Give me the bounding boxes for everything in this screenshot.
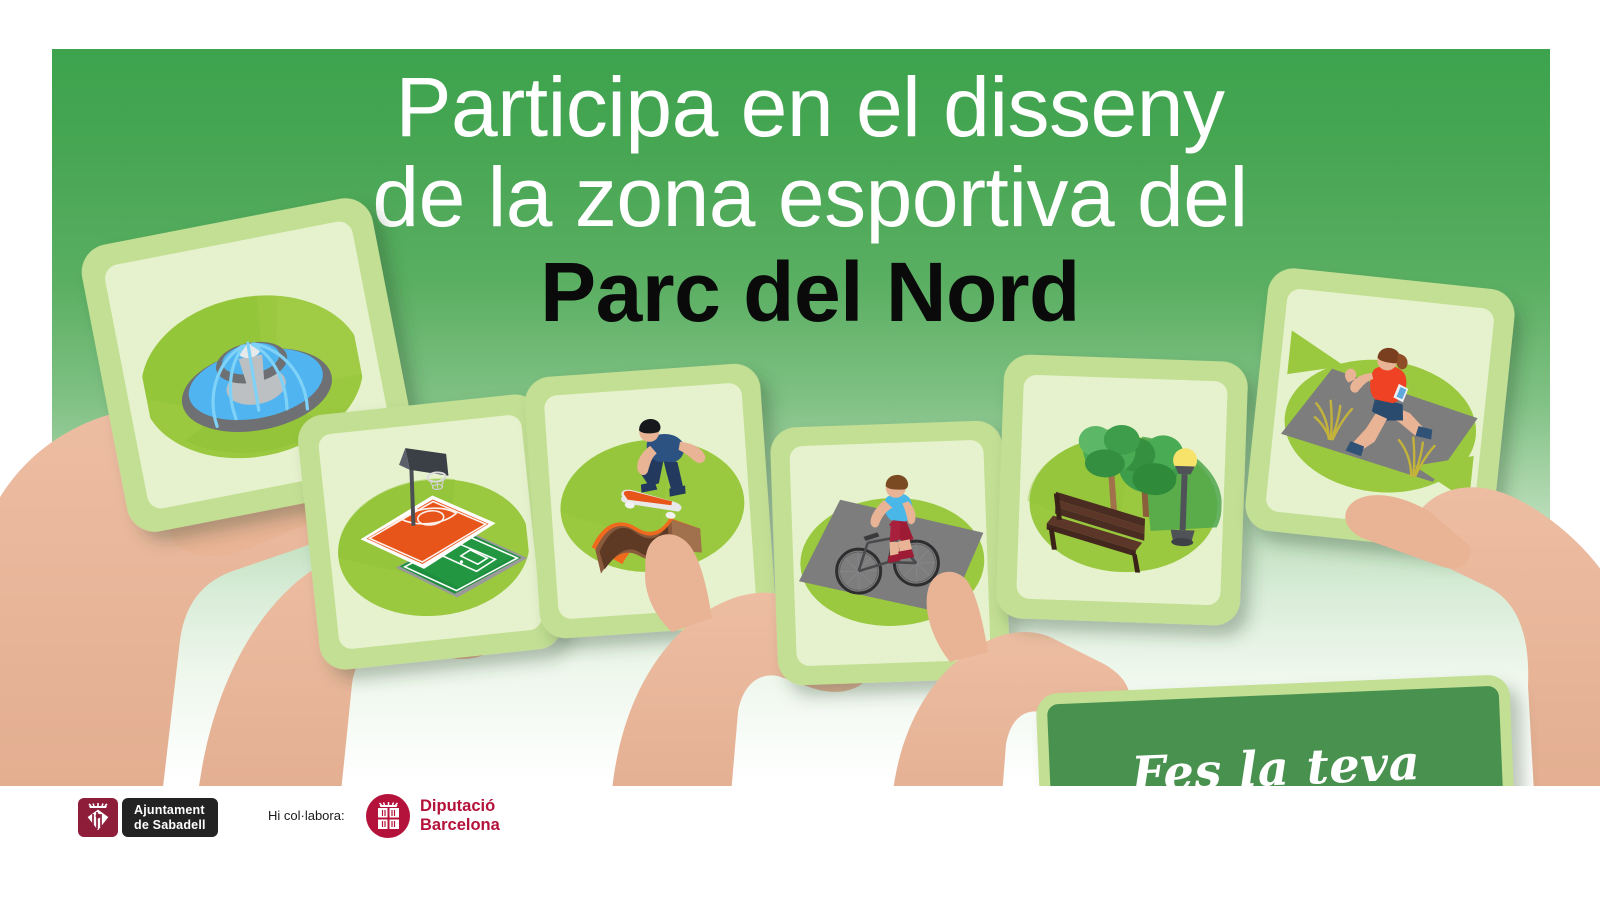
ajuntament-line-2: de Sabadell — [134, 818, 206, 833]
sabadell-shield-icon — [78, 798, 118, 837]
diputacio-shield-icon — [366, 794, 410, 838]
diputacio-wordmark: Diputació Barcelona — [420, 797, 500, 835]
card-sports-court[interactable] — [295, 392, 564, 672]
logo-ajuntament-sabadell[interactable]: Ajuntament de Sabadell — [78, 798, 218, 837]
card-park-bench[interactable] — [995, 354, 1248, 626]
ajuntament-wordmark: Ajuntament de Sabadell — [122, 798, 218, 837]
logo-diputacio-barcelona[interactable]: Diputació Barcelona — [366, 794, 500, 838]
diputacio-line-1: Diputació — [420, 797, 500, 816]
diputacio-line-2: Barcelona — [420, 816, 500, 835]
ajuntament-line-1: Ajuntament — [134, 803, 206, 818]
footer-logos: Ajuntament de Sabadell Hi col·labora: Di… — [0, 786, 1600, 900]
poster-canvas: Participa en el disseny de la zona espor… — [0, 0, 1600, 900]
collaborator-label: Hi col·labora: — [268, 808, 345, 823]
